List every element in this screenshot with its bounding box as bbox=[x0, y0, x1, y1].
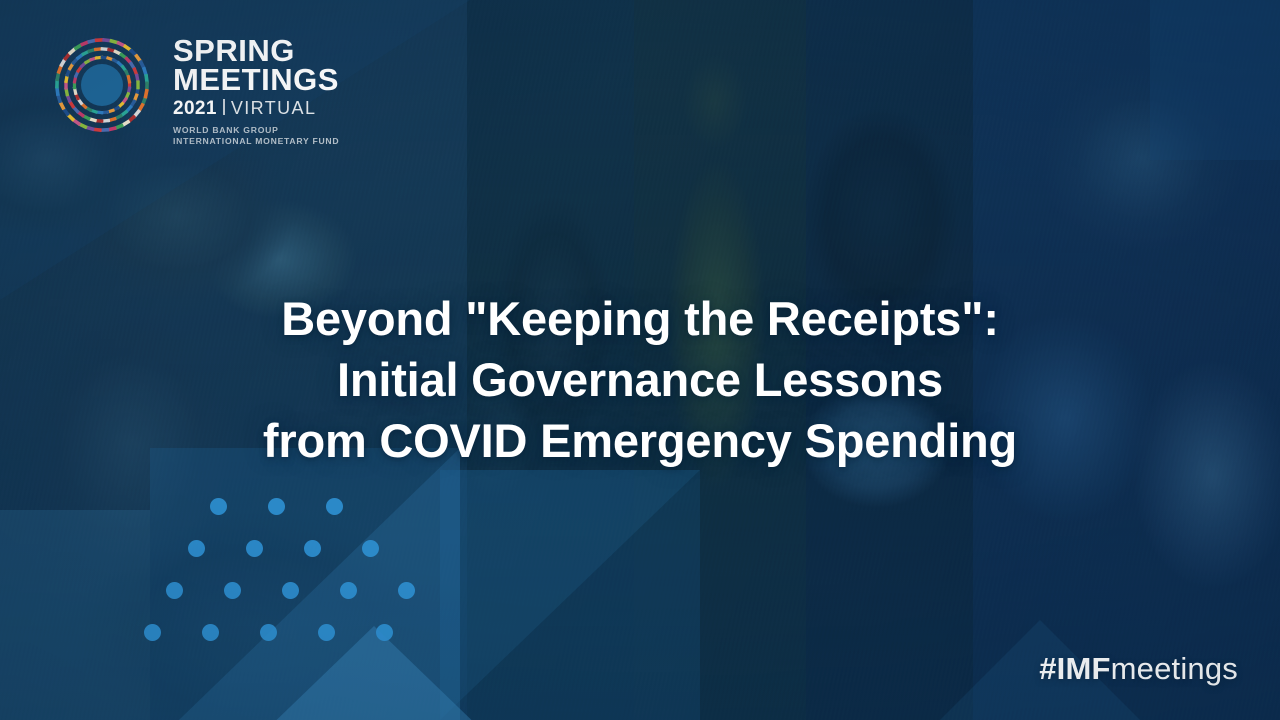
square-shape-top-right bbox=[1150, 0, 1280, 160]
dot-grid-dot bbox=[166, 582, 183, 599]
event-hashtag: #IMFmeetings bbox=[1039, 651, 1238, 687]
logo-year: 2021 bbox=[173, 98, 217, 120]
dot-grid-dot bbox=[304, 540, 321, 557]
hashtag-bold-part: #IMF bbox=[1039, 651, 1110, 686]
spring-meetings-logo-lockup: SPRING MEETINGS 2021 VIRTUAL WORLD BANK … bbox=[45, 28, 339, 146]
logo-line-spring: SPRING bbox=[173, 36, 339, 65]
session-title-line-3: from COVID Emergency Spending bbox=[60, 410, 1220, 471]
logo-line-meetings: MEETINGS bbox=[173, 65, 339, 94]
dot-grid-dot bbox=[340, 582, 357, 599]
dot-grid-dot bbox=[326, 498, 343, 515]
dot-grid-dot bbox=[202, 624, 219, 641]
dot-grid-dot bbox=[376, 624, 393, 641]
dot-grid-dot bbox=[398, 582, 415, 599]
dot-grid-dot bbox=[260, 624, 277, 641]
session-title-line-2: Initial Governance Lessons bbox=[60, 349, 1220, 410]
dot-grid-dot bbox=[188, 540, 205, 557]
dot-grid-decoration bbox=[150, 498, 400, 644]
dot-grid-dot bbox=[282, 582, 299, 599]
dot-grid-dot bbox=[246, 540, 263, 557]
dot-grid-dot bbox=[318, 624, 335, 641]
square-shape-bottom-left bbox=[0, 510, 150, 720]
slide-canvas: SPRING MEETINGS 2021 VIRTUAL WORLD BANK … bbox=[0, 0, 1280, 720]
session-title: Beyond "Keeping the Receipts": Initial G… bbox=[0, 288, 1280, 471]
dot-grid-dot bbox=[210, 498, 227, 515]
logo-text-block: SPRING MEETINGS 2021 VIRTUAL WORLD BANK … bbox=[173, 28, 339, 146]
logo-organizations: WORLD BANK GROUP INTERNATIONAL MONETARY … bbox=[173, 125, 339, 146]
spring-meetings-flag-ring-icon bbox=[45, 28, 159, 142]
logo-org-world-bank-group: WORLD BANK GROUP bbox=[173, 125, 339, 136]
logo-org-imf: INTERNATIONAL MONETARY FUND bbox=[173, 136, 339, 147]
logo-mode-virtual: VIRTUAL bbox=[231, 98, 317, 119]
dot-grid-dot bbox=[268, 498, 285, 515]
session-title-line-1: Beyond "Keeping the Receipts": bbox=[60, 288, 1220, 349]
logo-year-row: 2021 VIRTUAL bbox=[173, 98, 339, 120]
hashtag-light-part: meetings bbox=[1111, 651, 1238, 686]
dot-grid-dot bbox=[362, 540, 379, 557]
logo-divider-bar bbox=[223, 99, 225, 115]
dot-grid-dot bbox=[144, 624, 161, 641]
dot-grid-dot bbox=[224, 582, 241, 599]
